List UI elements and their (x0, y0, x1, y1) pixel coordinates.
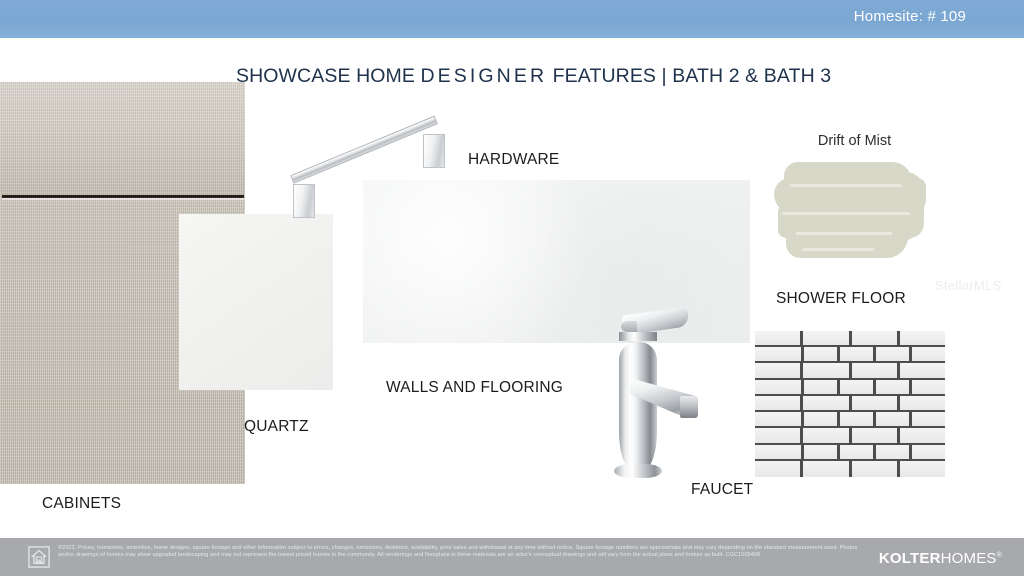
caption-hardware: HARDWARE (468, 151, 559, 169)
tile-cell (900, 428, 945, 442)
tile-cell (900, 396, 945, 410)
logo-homes-text: HOMES (941, 550, 997, 567)
page-title: SHOWCASE HOME DESIGNER FEATURES | BATH 2… (236, 65, 831, 88)
homesite-label: Homesite: # 109 (854, 8, 966, 25)
title-part-two: FEATURES | BATH 2 & BATH 3 (547, 65, 831, 87)
mosaic-tile-swatch (755, 331, 945, 477)
paint-brushstroke-swatch (772, 160, 932, 264)
tile-cell (876, 380, 912, 394)
logo-kolter-text: KOLTER (879, 550, 941, 567)
tile-cell (803, 363, 851, 377)
chrome-faucet (600, 310, 710, 478)
tile-cell (804, 445, 840, 459)
tile-cell (755, 363, 803, 377)
tile-cell (912, 380, 945, 394)
tile-cell (912, 347, 945, 361)
tile-cell (755, 380, 804, 394)
caption-quartz: QUARTZ (244, 418, 309, 436)
tile-cell (876, 347, 912, 361)
tile-cell (804, 412, 840, 426)
tile-row (755, 445, 945, 461)
faucet-handle-tip (621, 321, 637, 332)
tile-cell (912, 412, 945, 426)
tile-cell (876, 412, 912, 426)
paint-swatch-block: Drift of Mist (762, 133, 947, 288)
brushstroke-streak (802, 248, 874, 251)
tile-row (755, 331, 945, 347)
faucet-collar (619, 332, 657, 341)
brushstroke-streak (796, 232, 892, 235)
tile-cell (803, 461, 851, 477)
tile-cell (852, 396, 900, 410)
faucet-body (619, 342, 657, 470)
tile-row (755, 347, 945, 363)
tile-cell (840, 445, 876, 459)
tile-row (755, 396, 945, 412)
tile-cell (852, 461, 900, 477)
tile-cell (755, 428, 803, 442)
stellar-mls-watermark: StellarMLS (935, 278, 1002, 293)
tile-cell (755, 445, 804, 459)
pull-post-right (423, 134, 445, 168)
tile-row (755, 412, 945, 428)
caption-cabinets: CABINETS (42, 495, 121, 513)
tile-row (755, 363, 945, 379)
cabinet-upper-shading (0, 82, 245, 195)
faucet-base (614, 464, 662, 478)
paint-color-name: Drift of Mist (762, 133, 947, 149)
tile-cell (755, 347, 804, 361)
tile-cell (900, 363, 945, 377)
tile-cell (804, 380, 840, 394)
tile-cell (803, 396, 851, 410)
cabinet-seam-highlight (2, 198, 244, 200)
tile-cell (852, 331, 900, 345)
faucet-spout-tip (680, 396, 698, 418)
tile-cell (803, 428, 851, 442)
tile-cell (755, 412, 804, 426)
quartz-swatch (179, 214, 333, 390)
tile-cell (876, 445, 912, 459)
tile-cell (804, 347, 840, 361)
title-part-designer: DESIGNER (421, 65, 548, 87)
tile-cell (840, 380, 876, 394)
brushstroke-streak (790, 184, 902, 187)
tile-cell (840, 347, 876, 361)
tile-cell (900, 461, 945, 477)
caption-faucet: FAUCET (691, 481, 753, 499)
tile-row (755, 380, 945, 396)
tile-cell (755, 331, 803, 345)
pull-bar (290, 116, 438, 184)
caption-shower-floor: SHOWER FLOOR (776, 290, 906, 308)
tile-cell (852, 428, 900, 442)
brushstroke-streak (782, 212, 910, 215)
tile-cell (912, 445, 945, 459)
tile-cell (803, 331, 851, 345)
tile-row (755, 461, 945, 477)
tile-cell (900, 331, 945, 345)
caption-walls-and-flooring: WALLS AND FLOORING (386, 379, 563, 397)
equal-housing-opportunity-icon (28, 546, 50, 568)
logo-trademark-symbol: ® (997, 552, 1002, 559)
title-part-one: SHOWCASE HOME (236, 65, 421, 87)
tile-cell (755, 396, 803, 410)
pull-post-left (293, 184, 315, 218)
tile-cell (755, 461, 803, 477)
tile-cell (852, 363, 900, 377)
tile-cell (840, 412, 876, 426)
footer-disclaimer: ©2022. Prices, homesites, amenities, hom… (58, 545, 868, 559)
kolter-homes-logo: KOLTERHOMES® (879, 550, 1002, 567)
tile-row (755, 428, 945, 444)
